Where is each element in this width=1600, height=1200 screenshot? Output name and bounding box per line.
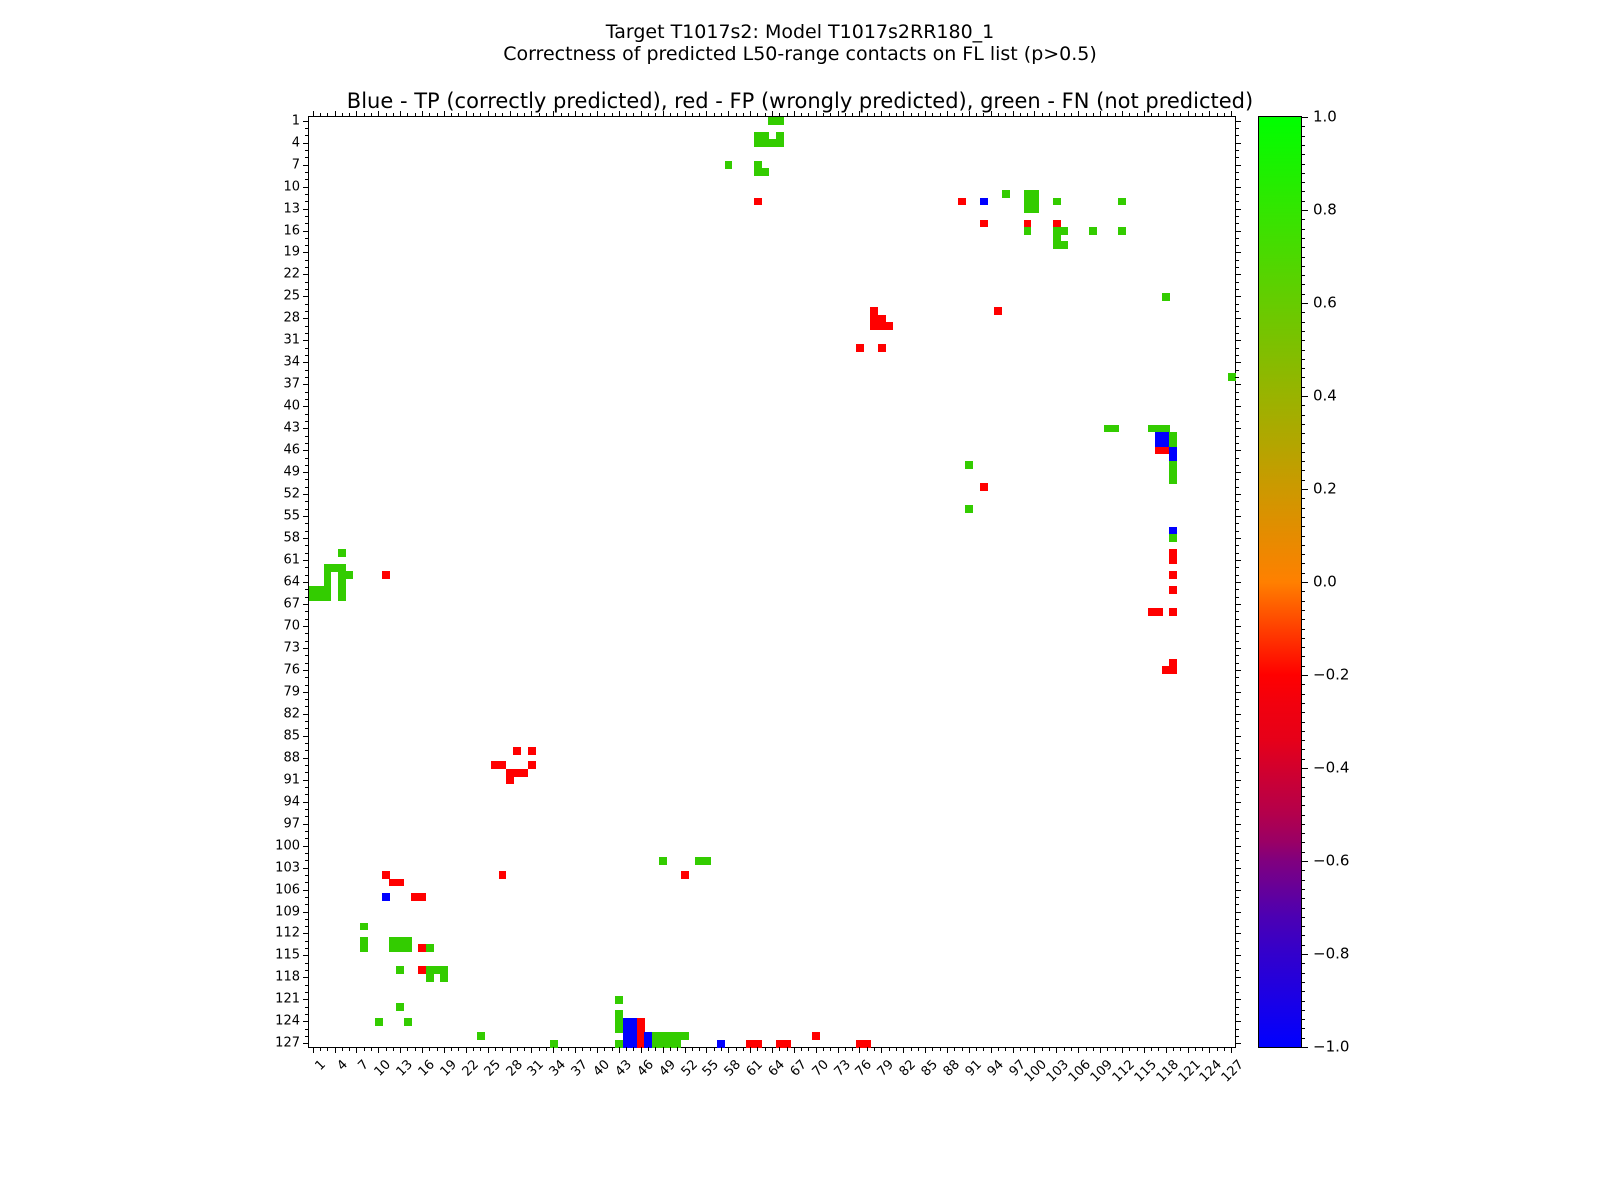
x-tick-mark xyxy=(437,113,438,117)
colorbar-minor-tick xyxy=(1301,275,1305,276)
y-tick-mark xyxy=(303,143,309,144)
x-tick-mark xyxy=(524,113,525,117)
y-tick-mark xyxy=(1235,589,1239,590)
y-tick-mark xyxy=(305,421,309,422)
y-tick-label: 67 xyxy=(283,597,300,610)
y-tick-mark xyxy=(305,245,309,246)
x-tick-mark xyxy=(998,1047,999,1051)
y-tick-mark xyxy=(303,846,309,847)
x-tick-mark xyxy=(320,113,321,117)
y-tick-mark xyxy=(1235,890,1241,891)
y-tick-mark xyxy=(305,794,309,795)
y-tick-mark xyxy=(1235,172,1239,173)
x-tick-mark xyxy=(889,1047,890,1051)
x-tick-mark xyxy=(626,1047,627,1051)
contact-cell-fn xyxy=(396,1003,404,1011)
colorbar-minor-tick xyxy=(1301,787,1305,788)
colorbar-tick-label: 0.6 xyxy=(1313,296,1337,311)
x-tick-mark xyxy=(757,1047,758,1051)
y-tick-mark xyxy=(303,824,309,825)
x-tick-mark xyxy=(1086,1047,1087,1051)
x-tick-mark xyxy=(1129,1047,1130,1051)
x-tick-label: 28 xyxy=(504,1058,525,1079)
colorbar-minor-tick xyxy=(1301,294,1305,295)
x-tick-mark xyxy=(903,1047,904,1053)
x-tick-mark xyxy=(582,1047,583,1051)
contact-cell-fp xyxy=(681,871,689,879)
x-tick-mark xyxy=(1158,113,1159,117)
contact-cell-fn xyxy=(1111,425,1119,433)
x-tick-mark xyxy=(458,1047,459,1051)
x-tick-mark xyxy=(896,113,897,117)
y-tick-mark xyxy=(303,758,309,759)
y-tick-mark xyxy=(1235,780,1241,781)
x-tick-mark xyxy=(903,111,904,117)
y-tick-label: 100 xyxy=(275,839,300,852)
colorbar-minor-tick xyxy=(1301,433,1305,434)
colorbar-tick-mark xyxy=(1301,1047,1308,1048)
y-tick-mark xyxy=(305,941,309,942)
x-tick-mark xyxy=(1188,1047,1189,1053)
y-tick-mark xyxy=(1235,252,1241,253)
y-tick-mark xyxy=(1235,516,1241,517)
x-tick-mark xyxy=(378,1047,379,1053)
y-tick-mark xyxy=(305,809,309,810)
colorbar-minor-tick xyxy=(1301,136,1305,137)
contact-cell-fn xyxy=(477,1032,485,1040)
y-tick-mark xyxy=(305,772,309,773)
x-tick-mark xyxy=(852,1047,853,1051)
colorbar-minor-tick xyxy=(1301,508,1305,509)
colorbar-minor-tick xyxy=(1301,647,1305,648)
x-tick-mark xyxy=(969,1047,970,1053)
y-tick-mark xyxy=(1235,1043,1241,1044)
x-tick-mark xyxy=(794,1047,795,1053)
y-tick-mark xyxy=(1235,509,1239,510)
y-tick-mark xyxy=(1235,553,1239,554)
x-tick-mark xyxy=(590,113,591,117)
x-tick-mark xyxy=(1166,1047,1167,1053)
contact-cell-fn xyxy=(965,505,973,513)
colorbar-tick-label: 1.0 xyxy=(1313,110,1337,125)
y-tick-mark xyxy=(1235,897,1239,898)
y-tick-mark xyxy=(303,406,309,407)
x-tick-mark xyxy=(787,1047,788,1051)
y-tick-mark xyxy=(303,1021,309,1022)
x-tick-mark xyxy=(393,113,394,117)
colorbar-minor-tick xyxy=(1301,229,1305,230)
y-tick-mark xyxy=(1235,560,1241,561)
y-tick-mark xyxy=(305,926,309,927)
x-tick-mark xyxy=(1122,1047,1123,1053)
colorbar-minor-tick xyxy=(1301,973,1305,974)
y-tick-mark xyxy=(305,523,309,524)
y-tick-mark xyxy=(1235,304,1239,305)
y-tick-mark xyxy=(303,428,309,429)
x-tick-mark xyxy=(524,1047,525,1051)
colorbar-tick-mark xyxy=(1301,861,1308,862)
x-tick-mark xyxy=(1078,1047,1079,1053)
x-tick-mark xyxy=(1034,1047,1035,1053)
x-tick-mark xyxy=(823,113,824,117)
contact-cell-fp xyxy=(396,879,404,887)
y-tick-mark xyxy=(305,838,309,839)
contact-cell-fn xyxy=(1031,205,1039,213)
y-tick-label: 4 xyxy=(292,136,300,149)
x-tick-mark xyxy=(619,1047,620,1053)
colorbar-minor-tick xyxy=(1301,917,1305,918)
y-tick-mark xyxy=(1235,794,1239,795)
contact-cell-fn xyxy=(1118,227,1126,235)
x-tick-mark xyxy=(787,113,788,117)
y-tick-label: 124 xyxy=(275,1015,300,1028)
colorbar-tick-label: −1.0 xyxy=(1313,1040,1349,1055)
y-tick-mark xyxy=(1235,992,1239,993)
y-tick-label: 40 xyxy=(283,400,300,413)
x-tick-label: 43 xyxy=(613,1058,634,1079)
y-tick-mark xyxy=(305,765,309,766)
colorbar-tick-label: 0.0 xyxy=(1313,575,1337,590)
x-tick-mark xyxy=(466,111,467,117)
y-tick-mark xyxy=(305,545,309,546)
x-tick-mark xyxy=(706,111,707,117)
x-tick-mark xyxy=(859,111,860,117)
x-tick-mark xyxy=(641,111,642,117)
x-tick-label: 64 xyxy=(766,1058,787,1079)
colorbar[interactable]: 1.00.80.60.40.20.0−0.2−0.4−0.6−0.8−1.0 xyxy=(1258,116,1302,1048)
x-tick-mark xyxy=(1064,113,1065,117)
colorbar-minor-tick xyxy=(1301,545,1305,546)
colorbar-minor-tick xyxy=(1301,387,1305,388)
contact-cell-fn xyxy=(1060,241,1068,249)
y-tick-mark xyxy=(1235,209,1241,210)
y-tick-mark xyxy=(305,157,309,158)
contact-cell-fp xyxy=(754,198,762,206)
x-tick-mark xyxy=(1224,113,1225,117)
y-tick-mark xyxy=(305,267,309,268)
x-tick-mark xyxy=(794,111,795,117)
colorbar-minor-tick xyxy=(1301,452,1305,453)
y-tick-mark xyxy=(303,955,309,956)
colorbar-minor-tick xyxy=(1301,815,1305,816)
x-tick-mark xyxy=(670,1047,671,1051)
x-tick-mark xyxy=(1107,1047,1108,1051)
colorbar-minor-tick xyxy=(1301,982,1305,983)
colorbar-tick-mark xyxy=(1301,396,1308,397)
y-tick-mark xyxy=(1235,597,1239,598)
x-tick-label: 52 xyxy=(679,1058,700,1079)
x-tick-mark xyxy=(539,113,540,117)
colorbar-minor-tick xyxy=(1301,1001,1305,1002)
x-tick-mark xyxy=(1173,113,1174,117)
colorbar-minor-tick xyxy=(1301,247,1305,248)
y-tick-mark xyxy=(305,150,309,151)
y-tick-mark xyxy=(1235,706,1239,707)
colorbar-tick-mark xyxy=(1301,210,1308,211)
y-tick-mark xyxy=(305,201,309,202)
y-tick-mark xyxy=(305,1014,309,1015)
x-tick-mark xyxy=(663,1047,664,1053)
y-tick-mark xyxy=(305,553,309,554)
x-tick-mark xyxy=(364,1047,365,1051)
x-tick-label: 55 xyxy=(701,1058,722,1079)
colorbar-minor-tick xyxy=(1301,284,1305,285)
colorbar-minor-tick xyxy=(1301,870,1305,871)
y-tick-mark xyxy=(303,626,309,627)
y-tick-mark xyxy=(305,677,309,678)
x-tick-mark xyxy=(553,1047,554,1053)
y-tick-mark xyxy=(1235,977,1241,978)
colorbar-minor-tick xyxy=(1301,740,1305,741)
y-tick-label: 85 xyxy=(283,729,300,742)
x-tick-mark xyxy=(1202,1047,1203,1051)
x-tick-mark xyxy=(1180,1047,1181,1051)
y-tick-mark xyxy=(305,904,309,905)
x-tick-mark xyxy=(488,1047,489,1053)
y-tick-mark xyxy=(1235,340,1241,341)
y-tick-mark xyxy=(1235,370,1239,371)
x-tick-mark xyxy=(626,113,627,117)
y-tick-mark xyxy=(303,604,309,605)
y-tick-label: 1 xyxy=(292,114,300,127)
colorbar-minor-tick xyxy=(1301,749,1305,750)
contact-cell-fn xyxy=(396,966,404,974)
y-tick-mark xyxy=(1235,912,1241,913)
x-tick-label: 88 xyxy=(941,1058,962,1079)
x-tick-mark xyxy=(779,113,780,117)
y-tick-mark xyxy=(1235,311,1239,312)
y-tick-mark xyxy=(1235,392,1239,393)
y-tick-mark xyxy=(305,128,309,129)
x-tick-mark xyxy=(327,113,328,117)
x-tick-mark xyxy=(736,1047,737,1051)
contact-cell-fn xyxy=(1089,227,1097,235)
y-tick-label: 52 xyxy=(283,488,300,501)
x-tick-mark xyxy=(969,111,970,117)
contact-cell-fn xyxy=(615,996,623,1004)
colorbar-minor-tick xyxy=(1301,945,1305,946)
y-tick-mark xyxy=(1235,428,1241,429)
x-tick-mark xyxy=(721,113,722,117)
contact-cell-fn xyxy=(776,139,784,147)
contact-cell-fp xyxy=(1169,666,1177,674)
x-tick-mark xyxy=(1166,111,1167,117)
x-tick-mark xyxy=(881,1047,882,1053)
x-tick-mark xyxy=(553,111,554,117)
y-tick-label: 37 xyxy=(283,378,300,391)
x-tick-mark xyxy=(925,111,926,117)
colorbar-minor-tick xyxy=(1301,824,1305,825)
x-tick-mark xyxy=(604,1047,605,1051)
colorbar-tick-mark xyxy=(1301,675,1308,676)
y-tick-mark xyxy=(1235,1021,1241,1022)
x-tick-mark xyxy=(1151,113,1152,117)
y-tick-mark xyxy=(305,567,309,568)
x-tick-mark xyxy=(1056,111,1057,117)
x-tick-mark xyxy=(1005,1047,1006,1051)
y-tick-mark xyxy=(303,187,309,188)
x-tick-mark xyxy=(517,1047,518,1051)
x-tick-mark xyxy=(1078,111,1079,117)
x-tick-label: 94 xyxy=(985,1058,1006,1079)
x-tick-mark xyxy=(327,1047,328,1051)
contact-cell-fn xyxy=(1060,227,1068,235)
x-tick-mark xyxy=(889,113,890,117)
y-tick-mark xyxy=(1235,187,1241,188)
x-tick-mark xyxy=(1100,111,1101,117)
y-tick-mark xyxy=(303,516,309,517)
y-tick-mark xyxy=(1235,955,1241,956)
x-tick-mark xyxy=(604,113,605,117)
x-tick-label: 4 xyxy=(335,1058,350,1073)
x-tick-mark xyxy=(597,1047,598,1053)
contact-cell-fp xyxy=(1155,608,1163,616)
x-tick-label: 70 xyxy=(810,1058,831,1079)
y-tick-label: 112 xyxy=(275,927,300,940)
colorbar-minor-tick xyxy=(1301,926,1305,927)
x-tick-label: 61 xyxy=(744,1058,765,1079)
y-tick-mark xyxy=(303,780,309,781)
x-tick-mark xyxy=(911,113,912,117)
x-tick-mark xyxy=(480,113,481,117)
y-tick-mark xyxy=(1235,772,1239,773)
y-tick-mark xyxy=(305,816,309,817)
y-tick-mark xyxy=(303,670,309,671)
y-tick-mark xyxy=(1235,436,1239,437)
x-tick-label: 58 xyxy=(723,1058,744,1079)
y-tick-mark xyxy=(1235,231,1241,232)
y-tick-mark xyxy=(303,165,309,166)
x-tick-mark xyxy=(349,113,350,117)
y-tick-mark xyxy=(305,919,309,920)
y-tick-mark xyxy=(305,509,309,510)
colorbar-minor-tick xyxy=(1301,368,1305,369)
colorbar-minor-tick xyxy=(1301,415,1305,416)
colorbar-minor-tick xyxy=(1301,842,1305,843)
x-tick-mark xyxy=(1013,111,1014,117)
x-tick-mark xyxy=(1180,113,1181,117)
x-tick-mark xyxy=(947,1047,948,1053)
x-tick-mark xyxy=(1231,111,1232,117)
y-tick-mark xyxy=(1235,267,1239,268)
y-tick-mark xyxy=(303,692,309,693)
colorbar-tick-mark xyxy=(1301,954,1308,955)
x-tick-label: 127 xyxy=(1220,1058,1247,1085)
y-tick-label: 79 xyxy=(283,685,300,698)
figure-title-line2: Correctness of predicted L50-range conta… xyxy=(0,43,1600,65)
x-tick-mark xyxy=(736,113,737,117)
y-tick-mark xyxy=(305,282,309,283)
x-tick-mark xyxy=(1137,113,1138,117)
y-tick-mark xyxy=(1235,648,1241,649)
y-tick-mark xyxy=(305,706,309,707)
y-tick-mark xyxy=(303,472,309,473)
colorbar-tick-label: 0.8 xyxy=(1313,203,1337,218)
x-tick-mark xyxy=(400,111,401,117)
x-tick-mark xyxy=(670,113,671,117)
x-tick-mark xyxy=(386,113,387,117)
x-tick-mark xyxy=(677,1047,678,1051)
contact-cell-fp xyxy=(528,761,536,769)
x-tick-mark xyxy=(1049,1047,1050,1051)
colorbar-minor-tick xyxy=(1301,322,1305,323)
colorbar-minor-tick xyxy=(1301,182,1305,183)
x-tick-mark xyxy=(867,113,868,117)
colorbar-minor-tick xyxy=(1301,759,1305,760)
y-tick-mark xyxy=(305,289,309,290)
x-tick-label: 46 xyxy=(635,1058,656,1079)
y-tick-mark xyxy=(303,121,309,122)
y-tick-mark xyxy=(305,948,309,949)
contact-cell-fp xyxy=(812,1032,820,1040)
x-tick-mark xyxy=(779,1047,780,1051)
contact-cell-fn xyxy=(338,593,346,601)
x-tick-mark xyxy=(648,113,649,117)
y-tick-mark xyxy=(1235,985,1239,986)
figure-legend-text: Blue - TP (correctly predicted), red - F… xyxy=(0,89,1600,113)
contact-cell-fp xyxy=(506,776,514,784)
x-tick-mark xyxy=(962,1047,963,1051)
x-tick-mark xyxy=(612,113,613,117)
x-tick-mark xyxy=(1195,1047,1196,1051)
x-tick-mark xyxy=(663,111,664,117)
x-tick-mark xyxy=(932,1047,933,1051)
y-tick-mark xyxy=(305,721,309,722)
colorbar-minor-tick xyxy=(1301,191,1305,192)
x-tick-mark xyxy=(962,113,963,117)
x-tick-mark xyxy=(1231,1047,1232,1053)
colorbar-minor-tick xyxy=(1301,898,1305,899)
y-tick-label: 61 xyxy=(283,554,300,567)
x-tick-label: 112 xyxy=(1110,1058,1137,1085)
figure-canvas: Target T1017s2: Model T1017s2RR180_1 Cor… xyxy=(0,0,1600,1200)
y-tick-mark xyxy=(1235,362,1241,363)
colorbar-minor-tick xyxy=(1301,266,1305,267)
y-tick-mark xyxy=(305,311,309,312)
colorbar-minor-tick xyxy=(1301,722,1305,723)
colorbar-minor-tick xyxy=(1301,563,1305,564)
y-tick-mark xyxy=(305,882,309,883)
y-tick-mark xyxy=(305,787,309,788)
x-tick-mark xyxy=(342,1047,343,1051)
y-tick-mark xyxy=(305,370,309,371)
y-tick-mark xyxy=(305,963,309,964)
x-tick-mark xyxy=(1020,113,1021,117)
x-tick-label: 49 xyxy=(657,1058,678,1079)
y-tick-mark xyxy=(1235,728,1239,729)
y-tick-mark xyxy=(305,641,309,642)
y-tick-label: 73 xyxy=(283,641,300,654)
y-tick-mark xyxy=(305,465,309,466)
x-tick-mark xyxy=(356,111,357,117)
colorbar-minor-tick xyxy=(1301,629,1305,630)
y-tick-mark xyxy=(305,970,309,971)
y-tick-mark xyxy=(1235,802,1241,803)
contact-cell-fn xyxy=(1169,534,1177,542)
contact-map-cells xyxy=(309,117,1235,1047)
x-tick-mark xyxy=(415,113,416,117)
y-tick-mark xyxy=(1235,333,1239,334)
y-tick-mark xyxy=(303,362,309,363)
y-tick-mark xyxy=(1235,465,1239,466)
x-tick-mark xyxy=(845,113,846,117)
y-tick-mark xyxy=(1235,970,1239,971)
contact-map-plot-area[interactable]: 1471013161922252831343740434649525558616… xyxy=(308,116,1236,1048)
y-tick-mark xyxy=(303,384,309,385)
contact-cell-fn xyxy=(703,857,711,865)
x-tick-mark xyxy=(918,113,919,117)
y-tick-mark xyxy=(305,1036,309,1037)
